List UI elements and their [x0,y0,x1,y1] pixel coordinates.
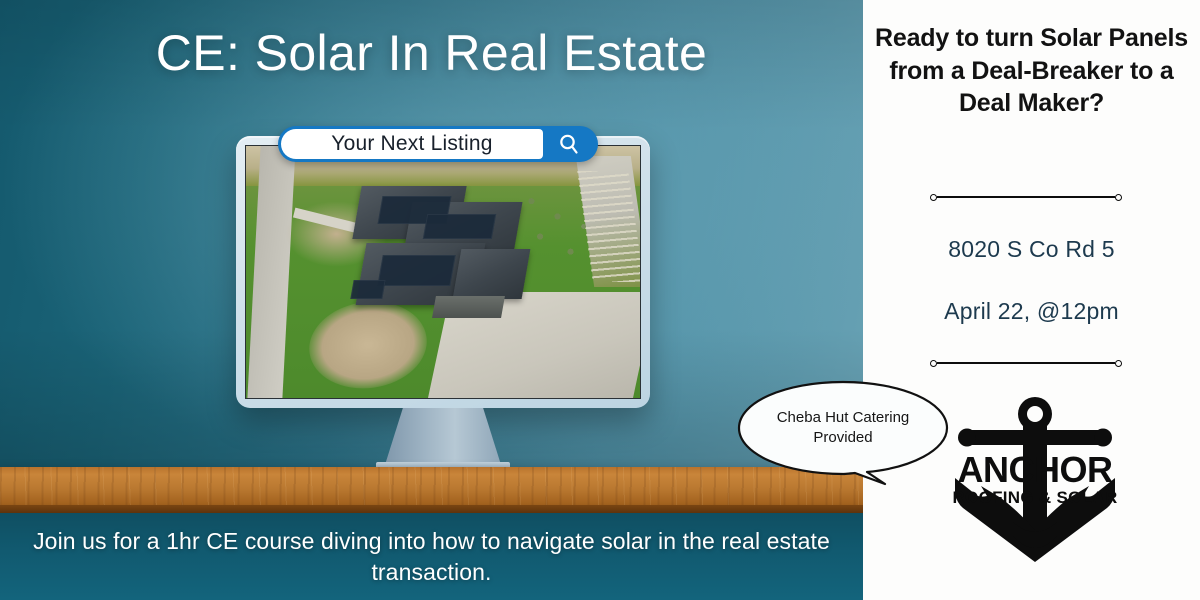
divider-bar [937,196,1115,198]
headline-text: Ready to turn Solar Panels from a Deal-B… [863,22,1200,120]
search-icon[interactable] [543,129,595,159]
left-teal-panel: CE: Solar In Real Estate [0,0,863,600]
event-address: 8020 S Co Rd 5 [863,236,1200,263]
solar-panel-array [423,214,496,239]
computer-monitor [236,136,650,408]
photo-garage-doors [433,296,505,318]
logo-tagline: ROOFING & SOLAR [952,488,1117,507]
divider-dot-right [1115,360,1122,367]
photo-house [325,186,554,342]
divider-dot-left [930,360,937,367]
event-flyer: CE: Solar In Real Estate [0,0,1200,600]
caption-text: Join us for a 1hr CE course diving into … [7,526,857,587]
monitor-stand-neck [384,408,502,468]
catering-speech-bubble: Cheba Hut Catering Provided [735,378,951,486]
wooden-shelf-edge [0,505,863,513]
divider-dot-left [930,194,937,201]
divider-top [930,192,1122,202]
caption-banner: Join us for a 1hr CE course diving into … [0,513,863,600]
search-bar[interactable]: Your Next Listing [278,126,598,162]
roof-section [453,249,530,299]
divider-bottom [930,358,1122,368]
monitor-screen [245,145,641,399]
page-title: CE: Solar In Real Estate [0,24,863,82]
divider-dot-right [1115,194,1122,201]
solar-panel-array [351,280,386,299]
search-input[interactable]: Your Next Listing [281,129,543,159]
bubble-text: Cheba Hut Catering Provided [751,408,935,449]
logo-wordmark: ANCHOR [958,449,1113,490]
listing-aerial-photo [246,146,640,398]
event-datetime: April 22, @12pm [863,298,1200,325]
divider-bar [937,362,1115,364]
anchor-roofing-solar-logo: ANCHOR ROOFING & SOLAR [935,390,1135,580]
solar-panel-array [377,255,456,286]
